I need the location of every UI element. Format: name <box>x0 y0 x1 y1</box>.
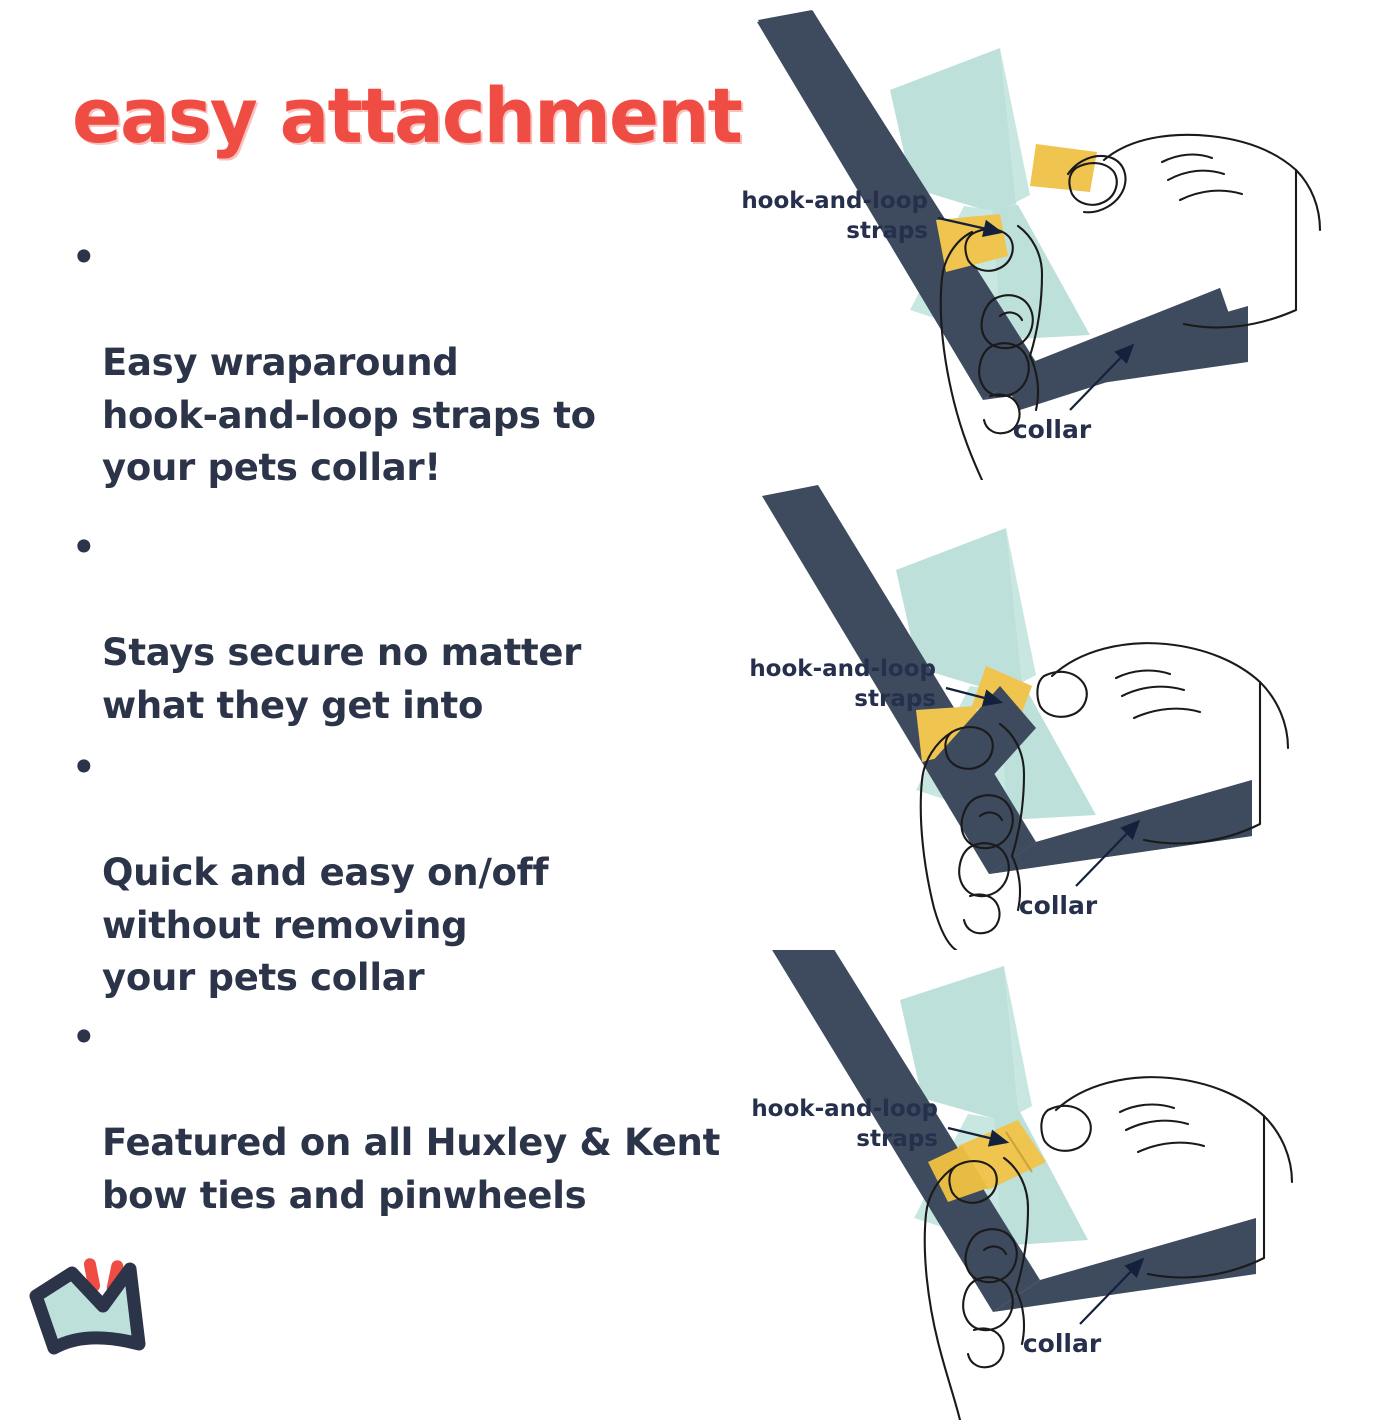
collar-label: collar <box>1019 891 1098 920</box>
list-item: • Quick and easy on/off without removing… <box>72 742 548 1057</box>
bullet-marker: • <box>72 1012 95 1065</box>
list-item-text: Stays secure no matter what they get int… <box>102 627 581 732</box>
strap-label-line-1: hook-and-loop <box>741 188 928 214</box>
left-content-column: easy attachment • Easy wraparound hook-a… <box>0 0 700 1400</box>
crown-logo <box>26 1244 186 1374</box>
list-item-text: Featured on all Huxley & Kent bow ties a… <box>102 1117 720 1222</box>
illustration-panel-step-2: hook-and-loop straps collar <box>700 480 1400 950</box>
strap-label-line-1: hook-and-loop <box>749 656 936 682</box>
bullet-marker: • <box>72 742 95 795</box>
bullet-marker: • <box>72 522 95 575</box>
bullet-marker: • <box>72 232 95 285</box>
list-item-text: Easy wraparound hook-and-loop straps to … <box>102 337 596 495</box>
list-item: • Featured on all Huxley & Kent bow ties… <box>72 1012 720 1275</box>
list-item-text: Quick and easy on/off without removing y… <box>102 847 548 1005</box>
strap-label-line-2: straps <box>854 686 936 712</box>
page-title: easy attachment <box>72 78 741 154</box>
strap-label-line-2: straps <box>856 1126 938 1152</box>
crown-shape <box>36 1269 139 1348</box>
strap-label-line-1: hook-and-loop <box>751 1096 938 1122</box>
illustration-panel-group: hook-and-loop straps collar <box>700 0 1400 1400</box>
collar-label: collar <box>1023 1329 1102 1358</box>
illustration-panel-step-3: hook-and-loop straps collar <box>700 950 1400 1420</box>
crown-icon <box>26 1244 186 1374</box>
list-item: • Easy wraparound hook-and-loop straps t… <box>72 232 596 547</box>
collar-label: collar <box>1013 415 1092 444</box>
strap-label-line-2: straps <box>846 218 928 244</box>
infographic-page: easy attachment • Easy wraparound hook-a… <box>0 0 1400 1400</box>
illustration-panel-step-1: hook-and-loop straps collar <box>700 10 1400 480</box>
